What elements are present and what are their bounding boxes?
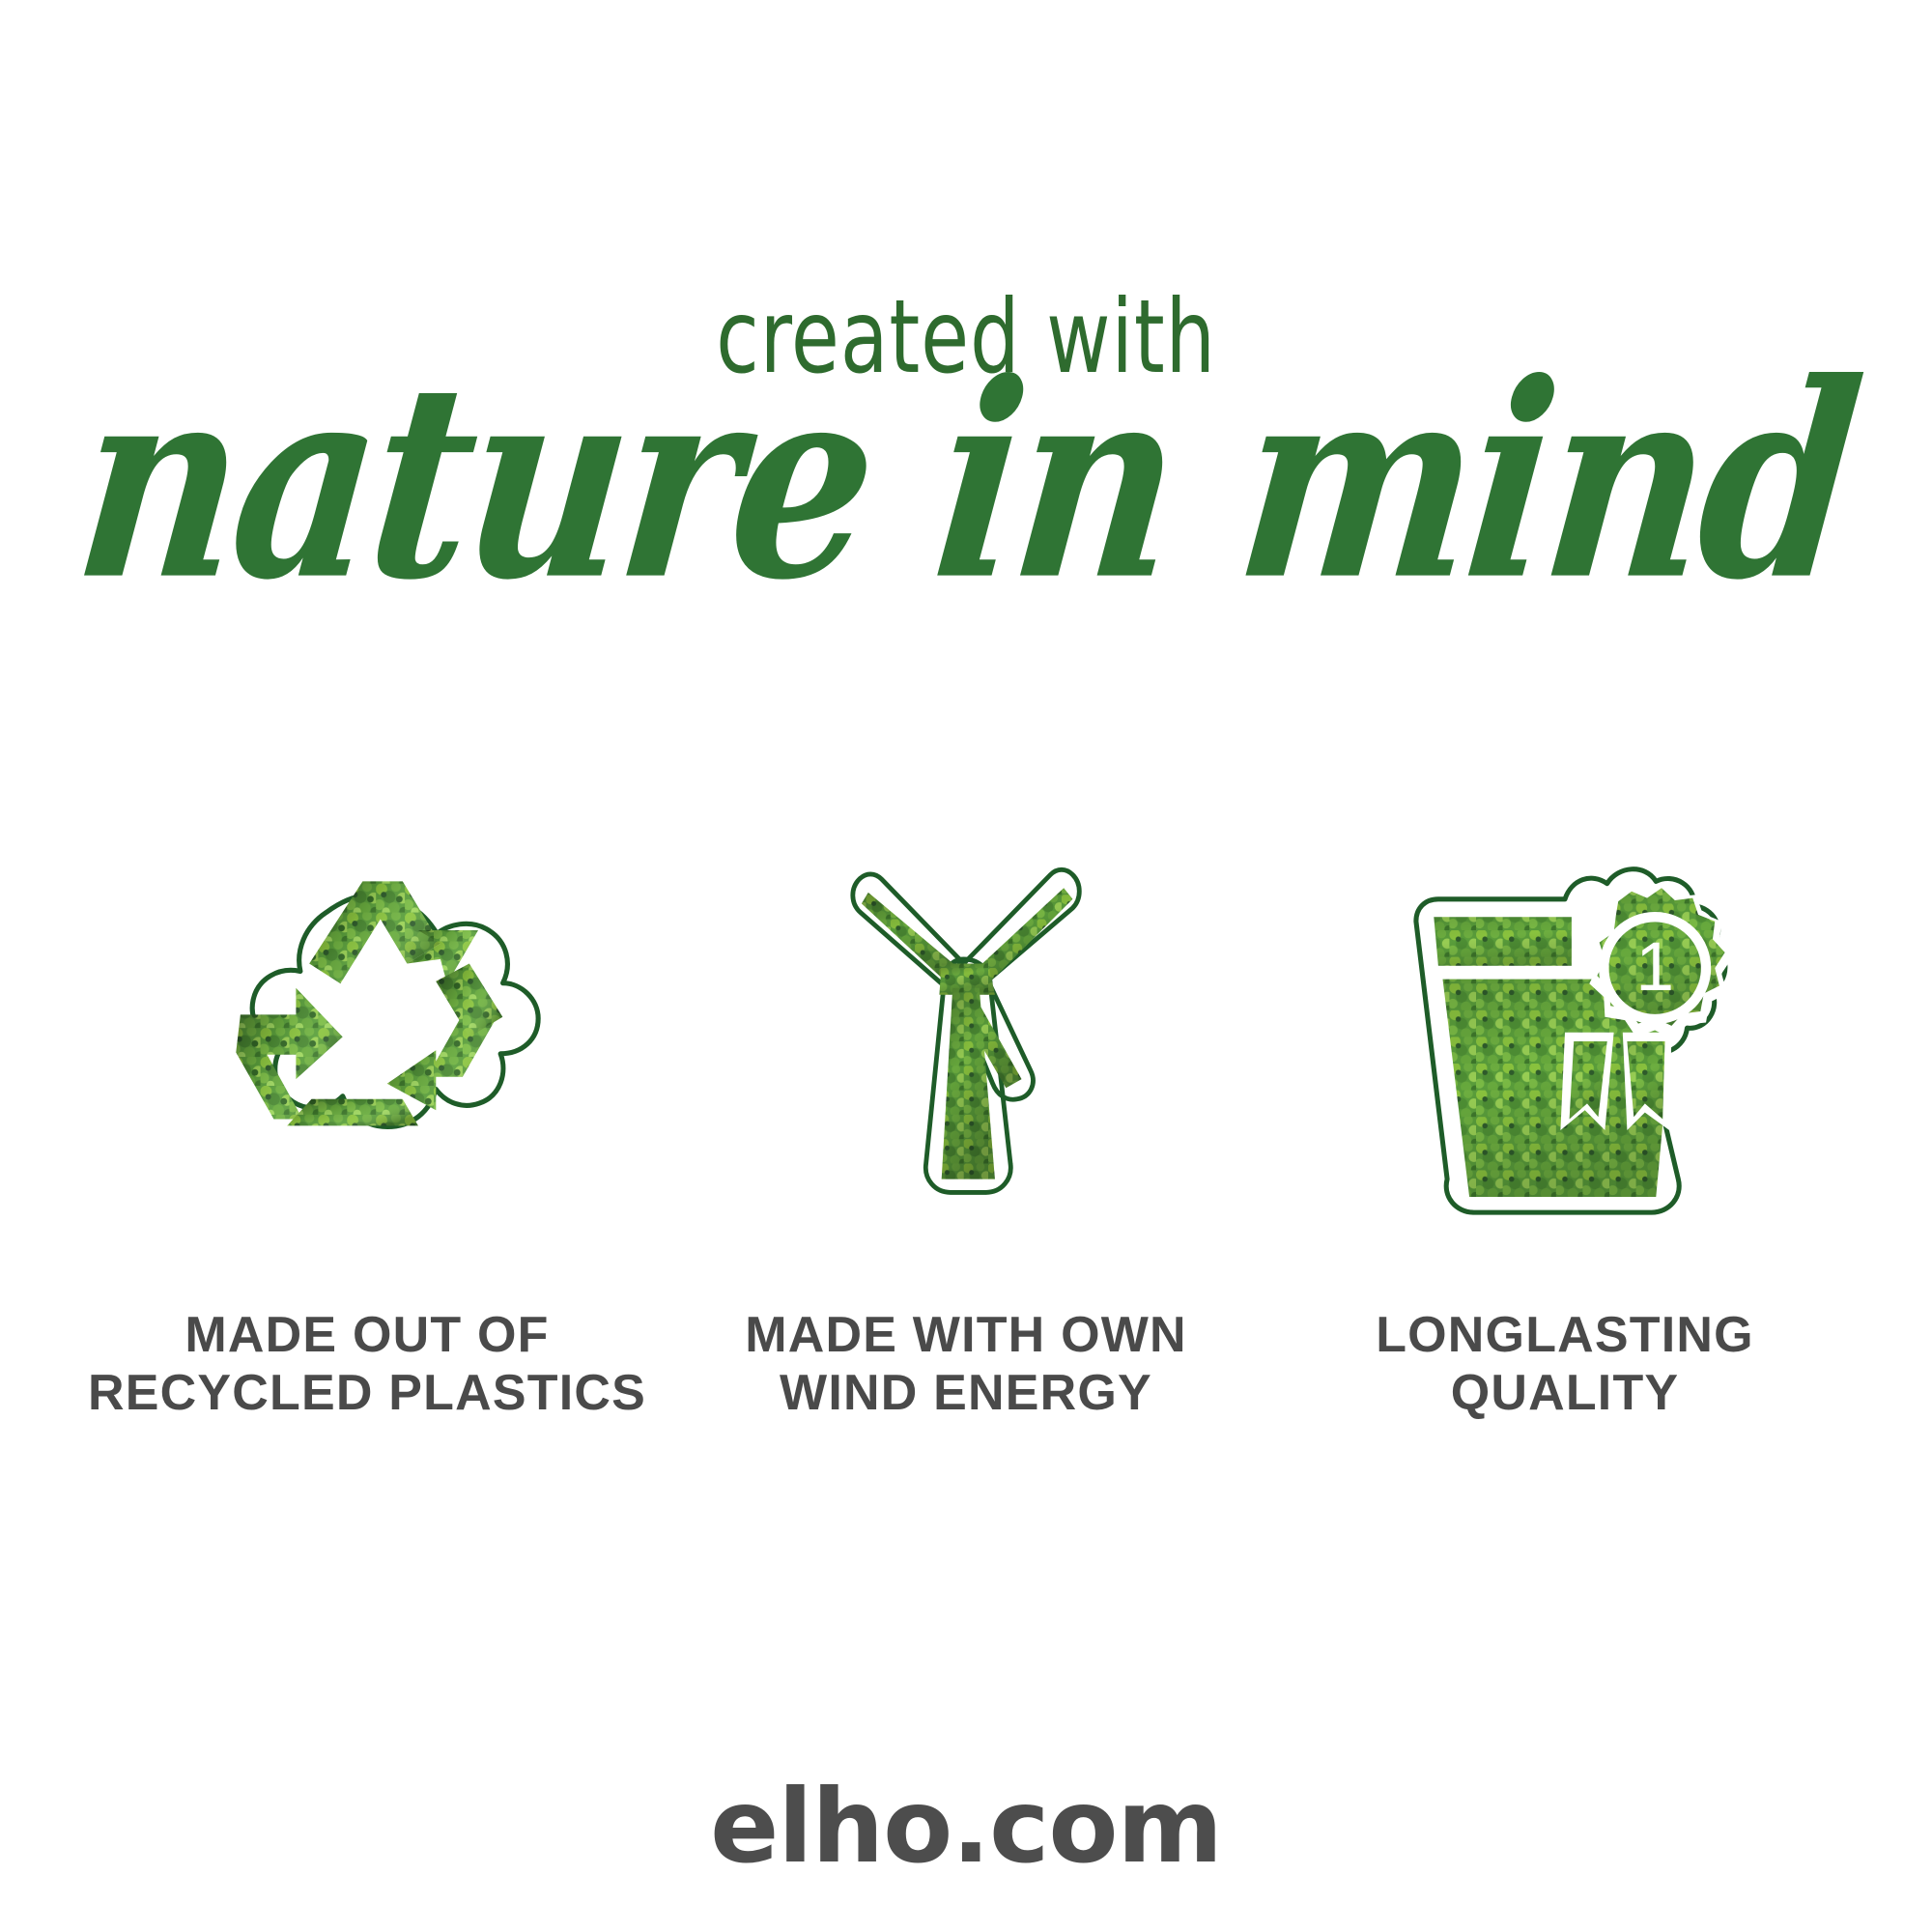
feature-item-longlasting-quality: 1 LONGLASTING QUALITY [1265, 792, 1864, 1423]
feature-label-longlasting-quality: LONGLASTING QUALITY [1376, 1306, 1754, 1423]
feature-label-wind-energy: MADE WITH OWN WIND ENERGY [745, 1306, 1187, 1423]
feature-label-line-1: MADE WITH OWN [745, 1307, 1187, 1363]
feature-label-line-2: QUALITY [1376, 1364, 1754, 1422]
promo-graphic: created with nature in mind [0, 0, 1932, 1932]
feature-icons-row: MADE OUT OF RECYCLED PLASTICS [0, 792, 1932, 1423]
feature-label-line-1: LONGLASTING [1376, 1307, 1754, 1363]
brand-wordmark[interactable]: elho.com [710, 1768, 1222, 1886]
headline-line-2: nature in mind [67, 349, 1864, 616]
recycle-icon [145, 792, 589, 1246]
feature-label-line-2: RECYCLED PLASTICS [88, 1364, 646, 1422]
wind-turbine-icon [744, 792, 1188, 1246]
footer: elho.com [0, 1768, 1932, 1886]
feature-label-line-1: MADE OUT OF [185, 1307, 549, 1363]
badge-number-text: 1 [1635, 928, 1674, 1006]
headline-block: created with nature in mind [0, 0, 1932, 618]
feature-label-recycled-plastics: MADE OUT OF RECYCLED PLASTICS [88, 1306, 646, 1423]
feature-label-line-2: WIND ENERGY [745, 1364, 1187, 1422]
feature-item-wind-energy: MADE WITH OWN WIND ENERGY [667, 792, 1265, 1423]
quality-pot-badge-icon: 1 [1343, 792, 1787, 1246]
feature-item-recycled-plastics: MADE OUT OF RECYCLED PLASTICS [68, 792, 667, 1423]
